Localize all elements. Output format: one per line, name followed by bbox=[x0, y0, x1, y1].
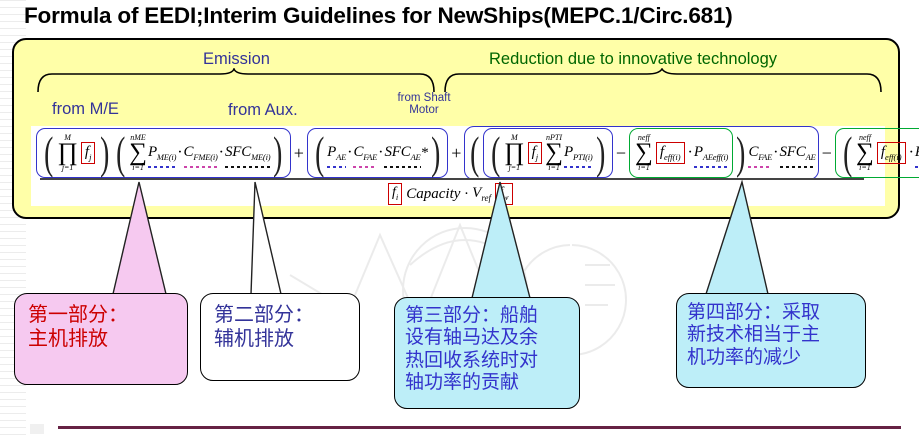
bottom-rule bbox=[58, 426, 901, 429]
callout-part-four-line-2: 新技术相当于主 bbox=[687, 323, 865, 345]
page-title: Formula of EEDI;Interim Guidelines for N… bbox=[24, 3, 904, 29]
shaft-motor-line-2: Motor bbox=[409, 104, 438, 116]
callout-part-two-line-1: 第二部分： bbox=[214, 303, 359, 327]
formula-term-shaft-and-eff: ( ( M ∏ j=1 fj nPTI ∑ i=1 PPTI(i) ) − ne… bbox=[464, 126, 818, 180]
shaft-motor-line-1: from Shaft bbox=[397, 92, 450, 104]
fraction-bar bbox=[40, 178, 864, 180]
highlight-fj-me: fj bbox=[81, 142, 96, 165]
eedi-formula-numerator: ( M ∏ j=1 fj ) ( nME ∑ i=1 PME(i) · CFME… bbox=[36, 124, 919, 182]
sum-operator-pti: nPTI ∑ i=1 bbox=[545, 134, 563, 171]
callout-part-three-line-2: 设有轴马达及余 bbox=[405, 326, 579, 348]
dot-6: · bbox=[772, 144, 779, 162]
callout-part-four-line-3: 机功率的减少 bbox=[687, 346, 865, 368]
term-cfme: CFME(i) bbox=[184, 144, 218, 162]
label-from-shaft-motor: from Shaft Motor bbox=[381, 92, 467, 116]
label-emission: Emission bbox=[203, 50, 270, 69]
term-asterisk: * bbox=[421, 145, 428, 162]
callout-part-one-line-1: 第一部分： bbox=[28, 303, 187, 327]
product-operator-me: M ∏ j=1 bbox=[57, 134, 78, 171]
dot-1: · bbox=[176, 144, 183, 162]
callout-part-three[interactable]: 第三部分：船舶 设有轴马达及余 热回收系统时对 轴功率的贡献 bbox=[394, 297, 580, 409]
highlight-fj-pti: fj bbox=[528, 142, 543, 165]
term-sfcae-tail: SFCAE bbox=[780, 144, 816, 162]
operator-plus-2: + bbox=[448, 143, 464, 164]
callout-part-three-line-4: 轴功率的贡献 bbox=[405, 371, 579, 393]
term-peff: Peff(i) bbox=[915, 144, 919, 162]
callout-part-one-line-2: 主机排放 bbox=[28, 327, 187, 351]
dot-3: · bbox=[346, 144, 353, 162]
term-sfcme: SFCME(i) bbox=[225, 144, 270, 162]
dot-5: · bbox=[687, 144, 694, 162]
sum-operator-eff: neff ∑ i=1 bbox=[856, 134, 874, 171]
label-from-main-engine: from M/E bbox=[52, 100, 119, 119]
term-cfae: CFAE bbox=[353, 144, 377, 162]
term-paeeff: PAEeff(i) bbox=[694, 144, 728, 162]
eedi-formula-denominator: fi Capacity · Vref fw bbox=[386, 182, 515, 206]
operator-minus-2: − bbox=[819, 143, 835, 164]
callout-part-four-line-1: 第四部分：采取 bbox=[687, 301, 865, 323]
term-ppti: PPTI(i) bbox=[564, 144, 593, 162]
callout-part-two[interactable]: 第二部分： 辅机排放 bbox=[200, 293, 360, 381]
dot-4: · bbox=[377, 144, 384, 162]
dot-7: · bbox=[908, 144, 915, 162]
dot-denominator: · bbox=[462, 186, 470, 203]
callout-part-three-line-3: 热回收系统时对 bbox=[405, 349, 579, 371]
formula-subterm-pti: ( M ∏ j=1 fj nPTI ∑ i=1 PPTI(i) ) bbox=[483, 128, 613, 178]
dot-2: · bbox=[218, 144, 225, 162]
term-pme: PME(i) bbox=[148, 144, 176, 162]
callout-part-one[interactable]: 第一部分： 主机排放 bbox=[14, 293, 188, 385]
term-vref: Vref bbox=[470, 185, 493, 203]
highlight-feff-me: feff(i) bbox=[877, 142, 906, 165]
formula-term-innovative-reduction: ( neff ∑ i=1 feff(i) · Peff(i) · CFME · … bbox=[835, 128, 919, 178]
formula-term-main-engine: ( M ∏ j=1 fj ) ( nME ∑ i=1 PME(i) · CFME… bbox=[36, 128, 291, 178]
sum-operator-me: nME ∑ i=1 bbox=[129, 134, 147, 171]
label-from-auxiliary: from Aux. bbox=[228, 101, 298, 120]
term-sfcae: SFCAE bbox=[384, 144, 420, 162]
term-cfae-tail: CFAE bbox=[748, 144, 772, 162]
operator-minus-1: − bbox=[613, 143, 629, 164]
highlight-fw-denominator: fw bbox=[495, 183, 513, 205]
term-capacity: Capacity bbox=[404, 186, 462, 203]
product-operator-pti: M ∏ j=1 bbox=[504, 134, 525, 171]
bottom-left-tick bbox=[30, 424, 44, 434]
callout-part-three-line-1: 第三部分：船舶 bbox=[405, 304, 579, 326]
formula-subterm-aeeff: neff ∑ i=1 feff(i) · PAEeff(i) bbox=[629, 128, 733, 178]
highlight-feff-ae: feff(i) bbox=[656, 142, 685, 165]
formula-term-auxiliary: ( PAE · CFAE · SFCAE * ) bbox=[307, 128, 448, 178]
term-pae: PAE bbox=[327, 144, 346, 162]
sum-operator-aeeff: neff ∑ i=1 bbox=[635, 134, 653, 171]
highlight-fi-denominator: fi bbox=[388, 183, 402, 205]
callout-part-four[interactable]: 第四部分：采取 新技术相当于主 机功率的减少 bbox=[676, 293, 866, 388]
callout-part-two-line-2: 辅机排放 bbox=[214, 327, 359, 351]
operator-plus-1: + bbox=[291, 143, 307, 164]
label-reduction: Reduction due to innovative technology bbox=[489, 50, 777, 69]
